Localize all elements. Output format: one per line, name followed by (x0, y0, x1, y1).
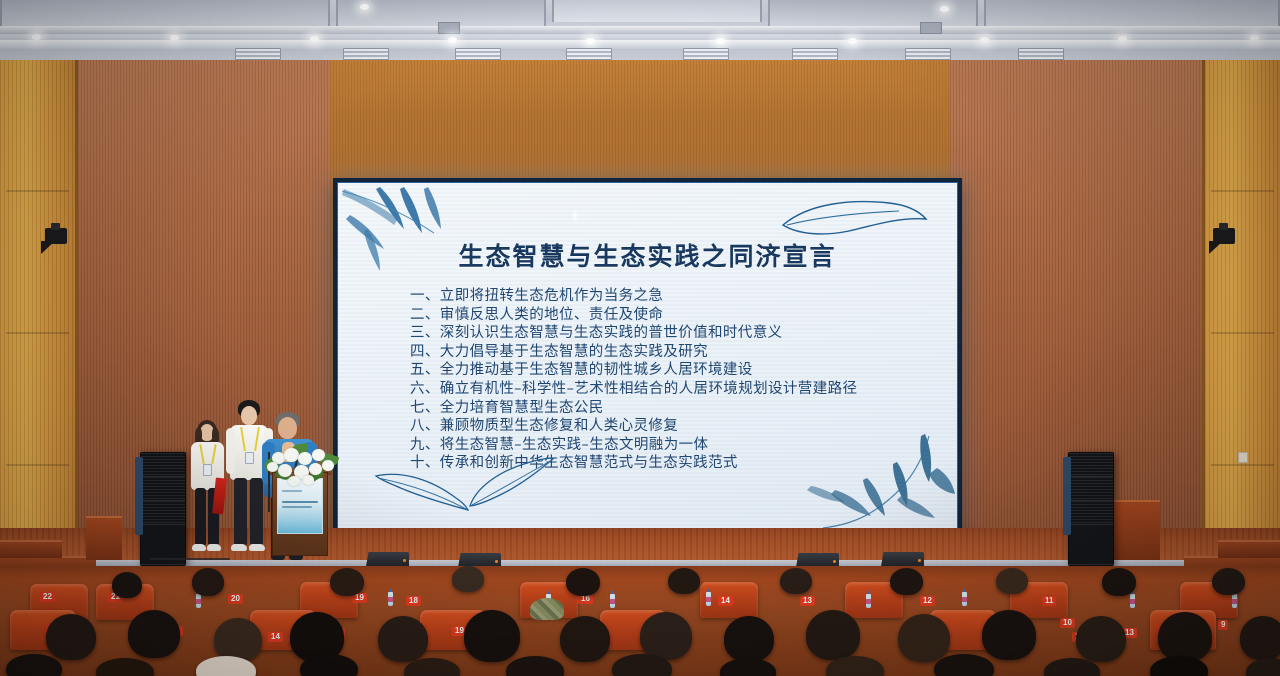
shoe (231, 544, 247, 551)
shoe (207, 544, 221, 551)
water-bottle (706, 592, 711, 606)
water-bottle (866, 594, 871, 608)
stage-riser (1106, 500, 1160, 560)
audience-head (46, 614, 96, 660)
audience-head (566, 568, 600, 596)
head (278, 417, 297, 439)
audience-head (96, 658, 154, 676)
audience-head (300, 654, 358, 676)
ceiling-projector-mount (920, 22, 942, 34)
audience-head (668, 568, 700, 594)
audience-head (1076, 616, 1126, 662)
seat-number: 13 (800, 596, 815, 606)
seat-number: 9 (1218, 620, 1228, 630)
wall-panel-left (0, 60, 78, 576)
seat-number: 14 (268, 632, 283, 642)
hvac-vent (683, 48, 729, 60)
ceiling-downlight (1250, 35, 1259, 41)
screen-glare (573, 211, 577, 221)
water-bottle (1130, 594, 1135, 608)
declaration-item: 九、将生态智慧–生态实践–生态文明融为一体 (410, 436, 927, 455)
audience-head (330, 568, 364, 596)
audience-head (378, 616, 428, 662)
conference-hall-photo: 生态智慧与生态实践之同济宣言 一、立即将扭转生态危机作为当务之急 二、审慎反思人… (0, 0, 1280, 676)
wall-camera-icon (45, 228, 67, 244)
audience-head (826, 656, 884, 676)
audience-head (506, 656, 564, 676)
seat-number: 14 (718, 596, 733, 606)
declaration-item: 七、全力培育智慧型生态公民 (410, 399, 927, 418)
seat-number: 11 (1042, 596, 1056, 606)
stage-step (1218, 540, 1280, 558)
ceiling-downlight (980, 37, 989, 43)
legs (195, 488, 206, 546)
audience-head (898, 614, 950, 662)
hvac-vent (1018, 48, 1064, 60)
audience-head (192, 568, 224, 596)
ceiling-downlight (940, 6, 949, 12)
ceiling (0, 0, 1280, 62)
audience-head (6, 654, 62, 676)
line-array-speaker-left (140, 452, 186, 566)
audience-head (806, 610, 860, 660)
name-badge (203, 464, 212, 476)
audience-head (560, 616, 610, 662)
name-badge (245, 452, 254, 464)
audience-head (724, 616, 774, 662)
camouflage-cap (530, 598, 564, 620)
declaration-item: 十、传承和创新中华生态智慧范式与生态实践范式 (410, 454, 927, 473)
audience-head (640, 612, 692, 660)
water-bottle (1232, 594, 1237, 608)
line-array-speaker-right (1068, 452, 1114, 566)
audience-head (982, 610, 1036, 660)
stage-step (0, 540, 62, 558)
audience-head (612, 654, 672, 676)
declaration-item: 四、大力倡导基于生态智慧的生态实践及研究 (410, 343, 927, 362)
ceiling-downlight (360, 4, 369, 10)
stage-riser (86, 516, 122, 560)
audience-seating: 22 21 20 19 18 16 14 13 12 11 (0, 566, 1280, 676)
audience-head (112, 572, 142, 598)
declaration-list: 一、立即将扭转生态危机作为当务之急 二、审慎反思人类的地位、责任及使命 三、深刻… (410, 287, 927, 473)
hvac-vent (905, 48, 951, 60)
audience-head (128, 610, 180, 658)
seat-number: 18 (406, 596, 421, 606)
ceiling-downlight (32, 34, 41, 40)
declaration-item: 三、深刻认识生态智慧与生态实践的普世价值和时代意义 (410, 324, 927, 343)
declaration-item: 六、确立有机性–科学性–艺术性相结合的人居环境规划设计营建路径 (410, 380, 927, 399)
hvac-vent (792, 48, 838, 60)
ceiling-downlight (310, 36, 319, 42)
ceiling-downlight (1118, 36, 1127, 42)
hvac-vent (566, 48, 612, 60)
water-bottle (196, 594, 201, 608)
declaration-item: 八、兼顾物质型生态修复和人类心灵修复 (410, 417, 927, 436)
wall-camera-icon (1213, 228, 1235, 244)
slide-surface: 生态智慧与生态实践之同济宣言 一、立即将扭转生态危机作为当务之急 二、审慎反思人… (337, 182, 958, 531)
legs (234, 478, 247, 546)
led-screen: 生态智慧与生态实践之同济宣言 一、立即将扭转生态危机作为当务之急 二、审慎反思人… (333, 178, 962, 535)
audience-head (996, 568, 1028, 594)
audience-head (404, 658, 460, 676)
podium-branding-panel (277, 478, 323, 534)
ceiling-downlight (448, 37, 457, 43)
audience-head (452, 566, 484, 592)
head (241, 406, 257, 425)
audience-head (1212, 568, 1245, 595)
audience-head (1158, 612, 1212, 662)
wall-switch-plate[interactable] (1238, 452, 1248, 463)
water-bottle (962, 592, 967, 606)
audience-head (720, 658, 776, 676)
seat-number: 22 (40, 592, 55, 602)
declaration-item: 一、立即将扭转生态危机作为当务之急 (410, 287, 927, 306)
ceiling-downlight (848, 38, 857, 44)
ceiling-downlight (170, 35, 179, 41)
leaf-outline-icon (779, 197, 929, 239)
slide-title: 生态智慧与生态实践之同济宣言 (338, 237, 957, 273)
arm (226, 428, 235, 474)
audience-head (464, 610, 520, 662)
audience-head (1240, 616, 1280, 660)
water-bottle (388, 592, 393, 606)
ceiling-projector-mount (438, 22, 460, 34)
audience-head (780, 568, 812, 594)
audience-head (1102, 568, 1136, 596)
flower-arrangement (262, 440, 340, 486)
hvac-vent (235, 48, 281, 60)
water-bottle (610, 594, 615, 608)
audience-head (890, 568, 923, 595)
seat-number: 10 (1060, 618, 1075, 628)
hvac-vent (455, 48, 501, 60)
wall-panel-right (1202, 60, 1280, 576)
ceiling-downlight (716, 38, 725, 44)
declaration-item: 五、全力推动基于生态智慧的韧性城乡人居环境建设 (410, 361, 927, 380)
ceiling-downlight (586, 38, 595, 44)
audience-head (934, 654, 994, 676)
hvac-vent (343, 48, 389, 60)
seat-number: 20 (228, 594, 243, 604)
seat-number: 12 (920, 596, 935, 606)
audience-head (1246, 658, 1280, 676)
shoe (192, 544, 206, 551)
declaration-item: 二、审慎反思人类的地位、责任及使命 (410, 306, 927, 325)
